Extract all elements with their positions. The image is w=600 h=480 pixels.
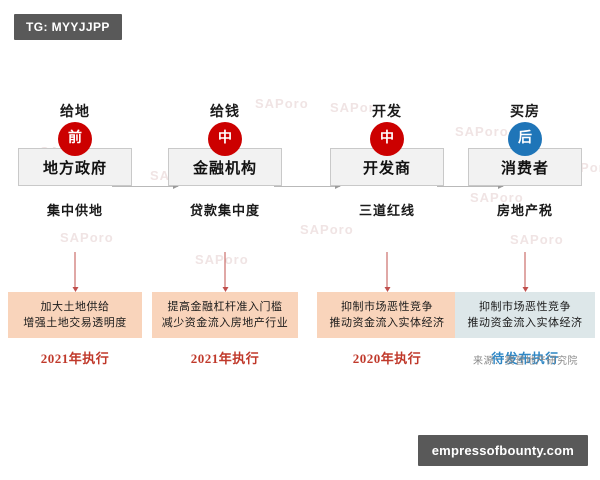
detail-box: 抑制市场恶性竞争 推动资金流入实体经济 [317,292,457,338]
chain-node-2: 开发 中 开发商 三道红线 抑制市场恶性竞争 推动资金流入实体经济 2020年执… [312,104,462,219]
node-badge-wrap: 中 [150,122,300,148]
detail-line: 减少资金流入房地产行业 [162,315,289,331]
detail-line: 推动资金流入实体经济 [468,315,583,331]
node-year: 2021年执行 [41,348,110,367]
node-verb: 开发 [312,104,462,122]
node-badge-wrap: 后 [450,122,600,148]
node-sub-label: 房地产税 [450,200,600,219]
telegram-tag: TG: MYYJJPP [14,14,122,40]
node-sub-label: 贷款集中度 [150,200,300,219]
node-sub-label: 三道红线 [312,200,462,219]
stem-connector [525,252,526,288]
node-title: 地方政府 [43,157,107,178]
detail-box: 加大土地供给 增强土地交易透明度 [8,292,142,338]
stage-badge: 中 [370,122,404,156]
node-badge-wrap: 前 [0,122,150,148]
detail-line: 提高金融杠杆准入门槛 [168,299,283,315]
node-verb: 给钱 [150,104,300,122]
node-verb: 买房 [450,104,600,122]
node-sub-label: 集中供地 [0,200,150,219]
detail-box: 抑制市场恶性竞争 推动资金流入实体经济 [455,292,595,338]
detail-line: 增强土地交易透明度 [23,315,127,331]
stage-badge: 中 [208,122,242,156]
detail-line: 推动资金流入实体经济 [330,315,445,331]
policy-chain-diagram: 给地 前 地方政府 集中供地 加大土地供给 增强土地交易透明度 2021年执行 … [0,0,600,480]
stem-connector [225,252,226,288]
chain-node-0: 给地 前 地方政府 集中供地 加大土地供给 增强土地交易透明度 2021年执行 [0,104,150,219]
stem-connector [387,252,388,288]
node-verb: 给地 [0,104,150,122]
stage-badge: 后 [508,122,542,156]
node-badge-wrap: 中 [312,122,462,148]
stem-connector [75,252,76,288]
detail-box: 提高金融杠杆准入门槛 减少资金流入房地产行业 [152,292,298,338]
source-credit: 来源：赛普地产研究院 [473,352,578,367]
detail-line: 加大土地供给 [41,299,110,315]
node-year: 2020年执行 [353,348,422,367]
node-title: 消费者 [501,157,549,178]
chain-node-1: 给钱 中 金融机构 贷款集中度 提高金融杠杆准入门槛 减少资金流入房地产行业 2… [150,104,300,219]
node-year: 2021年执行 [191,348,260,367]
chain-node-3: 买房 后 消费者 房地产税 抑制市场恶性竞争 推动资金流入实体经济 待发布执行 [450,104,600,219]
detail-line: 抑制市场恶性竞争 [341,299,433,315]
node-title: 开发商 [363,157,411,178]
detail-line: 抑制市场恶性竞争 [479,299,571,315]
node-title: 金融机构 [193,157,257,178]
stage-badge: 前 [58,122,92,156]
site-watermark-tag: empressofbounty.com [418,435,588,466]
